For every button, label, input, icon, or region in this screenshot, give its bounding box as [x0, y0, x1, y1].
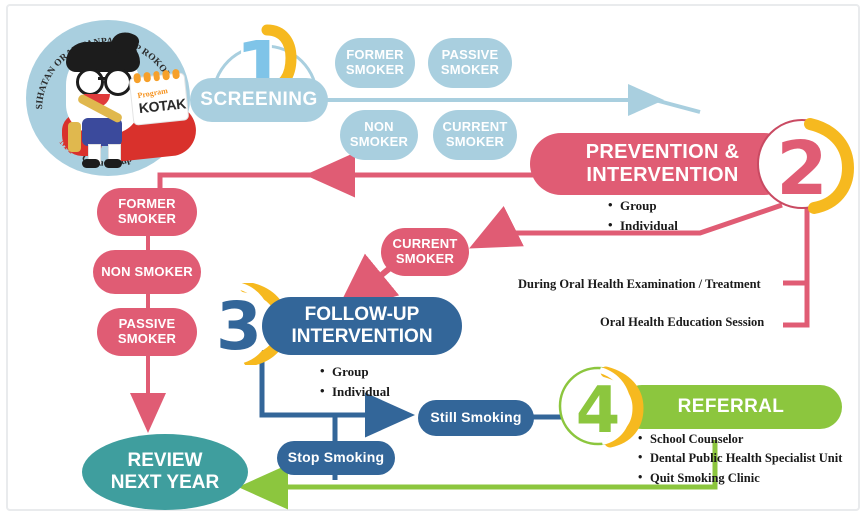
logo-glasses-right [104, 68, 132, 96]
left-item-passive-smoker-line1: PASSIVE [119, 317, 176, 332]
logo-program-card: Program KOTAK [130, 73, 189, 124]
step-2-title-line2: INTERVENTION [586, 164, 738, 187]
step-2-bullets: Group Individual [608, 196, 678, 235]
category-former-smoker-line2: SMOKER [346, 63, 404, 78]
review-next-year-node: REVIEW NEXT YEAR [82, 434, 248, 510]
step-3-bullet-0: Group [320, 362, 390, 382]
logo-bag [68, 122, 81, 152]
step-2-bullet-0: Group [608, 196, 678, 216]
category-non-smoker-line1: NON [364, 120, 394, 135]
category-non-smoker: NON SMOKER [340, 110, 418, 160]
current-smoker-referral-line1: CURRENT [393, 237, 458, 252]
category-former-smoker-line1: FORMER [346, 48, 404, 63]
review-next-year-line2: NEXT YEAR [111, 472, 219, 494]
step-4-bullets: School Counselor Dental Public Health Sp… [638, 430, 842, 488]
step-3-title-band: FOLLOW-UP INTERVENTION [262, 297, 462, 355]
step-3-number: 3 [216, 288, 262, 365]
outcome-stop-smoking: Stop Smoking [277, 441, 395, 475]
category-former-smoker: FORMER SMOKER [335, 38, 415, 88]
outcome-still-smoking: Still Smoking [418, 400, 534, 436]
category-current-smoker-line1: CURRENT [443, 120, 508, 135]
logo-glasses-left [76, 68, 104, 96]
step-4-badge: 4 [556, 362, 644, 450]
note-oral-health-education: Oral Health Education Session [600, 315, 764, 330]
step-3-bullets: Group Individual [320, 362, 390, 401]
step-4-bullet-2: Quit Smoking Clinic [638, 469, 842, 488]
left-item-former-smoker-line1: FORMER [118, 197, 176, 212]
note-oral-health-examination: During Oral Health Examination / Treatme… [518, 277, 761, 292]
category-current-smoker: CURRENT SMOKER [433, 110, 517, 160]
category-passive-smoker-line1: PASSIVE [442, 48, 499, 63]
category-current-smoker-line2: SMOKER [446, 135, 504, 150]
left-item-former-smoker-line2: SMOKER [118, 212, 176, 227]
left-item-passive-smoker-line2: SMOKER [118, 332, 176, 347]
step-3-title-line1: FOLLOW-UP [305, 304, 420, 326]
logo-glasses-bridge [98, 77, 106, 80]
kotak-program-logo: KESIHATAN ORAL TANPA ASAP ROKOK (KOTAK) … [20, 18, 196, 178]
logo-card-line2: KOTAK [138, 95, 187, 116]
category-passive-smoker-line2: SMOKER [441, 63, 499, 78]
current-smoker-referral-line2: SMOKER [396, 252, 454, 267]
left-item-passive-smoker: PASSIVE SMOKER [97, 308, 197, 356]
current-smoker-referral-pill: CURRENT SMOKER [381, 228, 469, 276]
step-4-bullet-0: School Counselor [638, 430, 842, 449]
flowchart-canvas: KESIHATAN ORAL TANPA ASAP ROKOK (KOTAK) … [0, 0, 866, 519]
step-2-title-line1: PREVENTION & [586, 141, 740, 164]
logo-shoe-left [82, 159, 100, 168]
step-4-title-band: REFERRAL [620, 385, 842, 429]
category-passive-smoker: PASSIVE SMOKER [428, 38, 512, 88]
step-2-bullet-1: Individual [608, 216, 678, 236]
logo-shoe-right [104, 159, 122, 168]
left-item-non-smoker: NON SMOKER [93, 250, 201, 294]
category-non-smoker-line2: SMOKER [350, 135, 408, 150]
step-2-badge: 2 [752, 112, 856, 216]
step-3-bullet-1: Individual [320, 382, 390, 402]
review-next-year-line1: REVIEW [128, 450, 203, 472]
step-1-title: SCREENING [190, 78, 328, 122]
step-4-bullet-1: Dental Public Health Specialist Unit [638, 449, 842, 468]
step-4-number: 4 [576, 374, 621, 448]
step-2-number: 2 [776, 126, 828, 212]
left-item-former-smoker: FORMER SMOKER [97, 188, 197, 236]
step-3-title-line2: INTERVENTION [291, 326, 432, 348]
